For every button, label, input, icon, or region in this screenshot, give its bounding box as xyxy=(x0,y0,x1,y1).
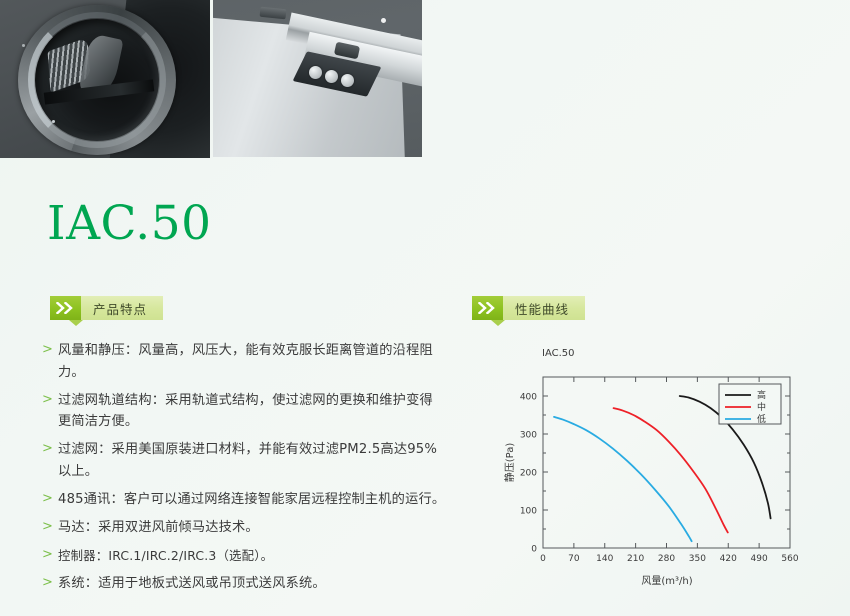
list-item-text: 过滤网轨道结构：采用轨道式结构，使过滤网的更换和维护变得更简洁方便。 xyxy=(58,390,446,433)
x-tick-label: 70 xyxy=(568,554,580,564)
x-tick-label: 210 xyxy=(627,554,644,564)
list-item-text: 风量和静压：风量高，风压大，能有效克服长距离管道的沿程阻力。 xyxy=(58,340,446,383)
list-item-text: 过滤网：采用美国原装进口材料，并能有效过滤PM2.5高达95%以上。 xyxy=(58,439,446,482)
x-tick-label: 560 xyxy=(781,554,798,564)
panel-button xyxy=(309,66,322,79)
legend-label-中: 中 xyxy=(757,401,766,413)
badge-notch xyxy=(491,320,505,326)
list-item-text: 485通讯：客户可以通过网络连接智能家居远程控制主机的运行。 xyxy=(58,489,445,511)
series-line-中 xyxy=(614,408,728,532)
legend-label-高: 高 xyxy=(757,389,766,401)
list-item: > 过滤网轨道结构：采用轨道式结构，使过滤网的更换和维护变得更简洁方便。 xyxy=(42,390,446,433)
list-item: > 系统：适用于地板式送风或吊顶式送风系统。 xyxy=(42,573,446,595)
panel-button xyxy=(325,70,338,83)
section-header-curve-label: 性能曲线 xyxy=(503,296,585,320)
double-chevron-right-icon xyxy=(50,296,81,320)
x-tick-label: 0 xyxy=(540,554,546,564)
double-chevron-right-icon xyxy=(472,296,503,320)
list-item: > 控制器：IRC.1/IRC.2/IRC.3（选配）。 xyxy=(42,545,446,567)
x-axis-label: 风量(m³/h) xyxy=(641,575,692,587)
section-header-curve: 性能曲线 xyxy=(472,296,585,320)
specular-highlight xyxy=(381,18,386,23)
section-header-features: 产品特点 xyxy=(50,296,163,320)
list-item: > 风量和静压：风量高，风压大，能有效克服长距离管道的沿程阻力。 xyxy=(42,340,446,383)
legend-box xyxy=(719,384,781,424)
x-tick-label: 350 xyxy=(689,554,706,564)
bullet-chevron-icon: > xyxy=(42,517,58,539)
duct-fan-collar-photo xyxy=(0,0,210,158)
screw-dot xyxy=(52,120,55,123)
list-item-text: 控制器：IRC.1/IRC.2/IRC.3（选配）。 xyxy=(58,545,273,567)
y-tick-label: 0 xyxy=(531,544,537,554)
badge-notch xyxy=(69,320,83,326)
section-header-features-label: 产品特点 xyxy=(81,296,163,320)
feature-list: > 风量和静压：风量高，风压大，能有效克服长距离管道的沿程阻力。 > 过滤网轨道… xyxy=(42,340,446,601)
performance-curve-chart: IAC.50 070140210280350420490560010020030… xyxy=(497,340,847,596)
bullet-chevron-icon: > xyxy=(42,489,58,511)
bullet-chevron-icon: > xyxy=(42,390,58,433)
x-tick-label: 490 xyxy=(751,554,768,564)
screw-dot xyxy=(22,44,25,47)
legend-label-低: 低 xyxy=(757,413,766,425)
list-item: > 马达：采用双进风前倾马达技术。 xyxy=(42,517,446,539)
panel-button xyxy=(341,74,354,87)
panel-latch-photo xyxy=(213,0,422,157)
chart-canvas: 0701402102803504204905600100200300400风量(… xyxy=(497,340,847,596)
bullet-chevron-icon: > xyxy=(42,439,58,482)
y-tick-label: 100 xyxy=(520,506,537,516)
y-tick-label: 200 xyxy=(520,468,537,478)
list-item-text: 系统：适用于地板式送风或吊顶式送风系统。 xyxy=(58,573,326,595)
y-tick-label: 400 xyxy=(520,392,537,402)
list-item: > 485通讯：客户可以通过网络连接智能家居远程控制主机的运行。 xyxy=(42,489,446,511)
bullet-chevron-icon: > xyxy=(42,573,58,595)
bullet-chevron-icon: > xyxy=(42,340,58,383)
product-photo-strip xyxy=(0,0,850,158)
list-item: > 过滤网：采用美国原装进口材料，并能有效过滤PM2.5高达95%以上。 xyxy=(42,439,446,482)
bullet-chevron-icon: > xyxy=(42,545,58,567)
series-line-低 xyxy=(554,417,692,541)
list-item-text: 马达：采用双进风前倾马达技术。 xyxy=(58,517,259,539)
x-tick-label: 140 xyxy=(596,554,613,564)
x-tick-label: 280 xyxy=(658,554,675,564)
page-title: IAC.50 xyxy=(47,196,212,251)
y-axis-label: 静压(Pa) xyxy=(503,443,516,483)
x-tick-label: 420 xyxy=(720,554,737,564)
y-tick-label: 300 xyxy=(520,430,537,440)
